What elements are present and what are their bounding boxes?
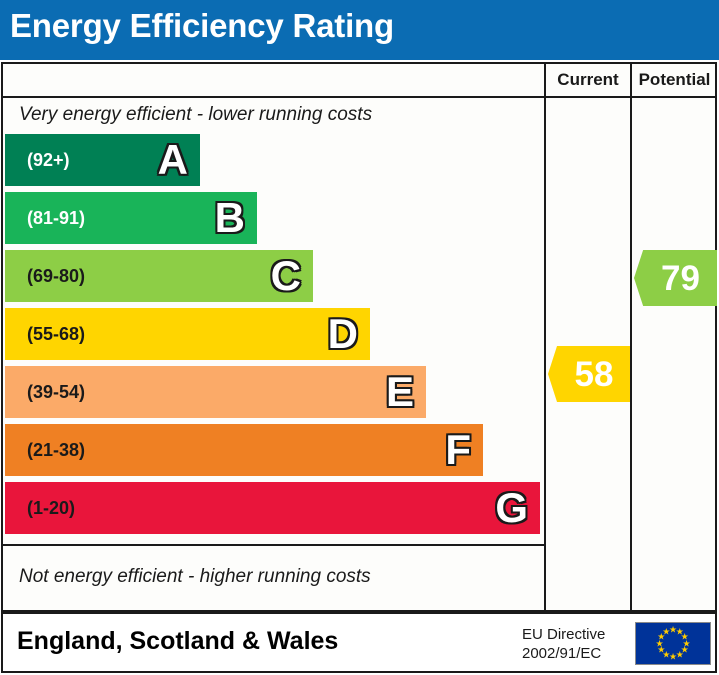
column-divider-potential	[630, 98, 632, 612]
caption-efficient: Very energy efficient - lower running co…	[3, 98, 544, 132]
band-letter-b: B	[215, 197, 245, 239]
caption-inefficient: Not energy efficient - higher running co…	[3, 544, 544, 610]
band-range-d: (55-68)	[27, 308, 85, 360]
current-rating-marker: 58	[548, 346, 630, 402]
footer-region-label: England, Scotland & Wales	[17, 627, 338, 656]
eu-flag-icon: ★★★★★★★★★★★★	[635, 622, 711, 665]
band-bar-d: (55-68)D	[5, 308, 370, 360]
band-bar-c: (69-80)C	[5, 250, 313, 302]
band-bar-g: (1-20)G	[5, 482, 540, 534]
potential-rating-marker: 79	[634, 250, 717, 306]
column-header-current: Current	[544, 64, 630, 96]
band-bar-b: (81-91)B	[5, 192, 257, 244]
band-bars-container: (92+)A(81-91)B(69-80)C(55-68)D(39-54)E(2…	[5, 134, 544, 546]
band-range-e: (39-54)	[27, 366, 85, 418]
footer-directive-label: EU Directive 2002/91/EC	[522, 625, 605, 663]
potential-rating-marker-value: 79	[651, 261, 700, 296]
current-rating-marker-value: 58	[565, 357, 614, 392]
band-letter-e: E	[386, 371, 414, 413]
band-range-c: (69-80)	[27, 250, 85, 302]
column-header-row: Current Potential	[3, 64, 715, 98]
band-range-a: (92+)	[27, 134, 70, 186]
page-title: Energy Efficiency Rating	[10, 7, 394, 45]
band-letter-a: A	[158, 139, 188, 181]
chart-title-bar: Energy Efficiency Rating	[0, 0, 719, 60]
band-range-b: (81-91)	[27, 192, 85, 244]
band-range-f: (21-38)	[27, 424, 85, 476]
band-letter-g: G	[495, 487, 528, 529]
chart-frame: Current Potential Very energy efficient …	[1, 62, 717, 612]
band-bar-f: (21-38)F	[5, 424, 483, 476]
band-letter-d: D	[328, 313, 358, 355]
energy-efficiency-rating-chart: Energy Efficiency Rating Current Potenti…	[0, 0, 719, 675]
column-header-potential: Potential	[630, 64, 717, 96]
directive-line-2: 2002/91/EC	[522, 644, 605, 663]
band-bar-e: (39-54)E	[5, 366, 426, 418]
chart-footer: England, Scotland & Wales EU Directive 2…	[1, 612, 717, 673]
directive-line-1: EU Directive	[522, 625, 605, 644]
band-letter-f: F	[445, 429, 471, 471]
band-bar-a: (92+)A	[5, 134, 200, 186]
column-divider-current	[544, 98, 546, 612]
band-letter-c: C	[271, 255, 301, 297]
band-range-g: (1-20)	[27, 482, 75, 534]
